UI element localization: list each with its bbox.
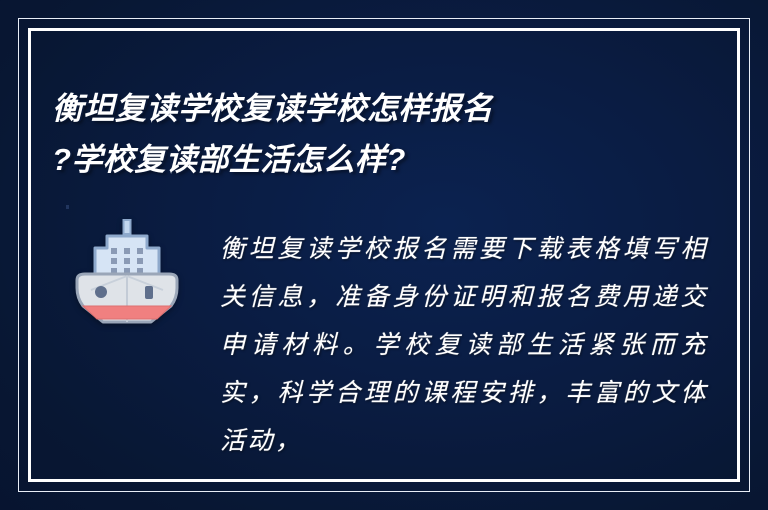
ship-porthole-right <box>145 286 153 299</box>
poster-canvas: 衡坦复读学校复读学校怎样报名 ?学校复读部生活怎么样? <box>0 0 768 510</box>
content-row: 衡坦复读学校报名需要下载表格填写相关信息，准备身份证明和报名费用递交申请材料。学… <box>52 196 708 458</box>
page-title: 衡坦复读学校复读学校怎样报名 ?学校复读部生活怎么样? <box>52 83 672 186</box>
ship-window-grid <box>111 248 143 274</box>
illustration-container <box>52 196 202 332</box>
ship-front-icon <box>67 212 187 332</box>
body-paragraph: 衡坦复读学校报名需要下载表格填写相关信息，准备身份证明和报名费用递交申请材料。学… <box>220 221 708 465</box>
ship-porthole-left <box>95 286 107 298</box>
